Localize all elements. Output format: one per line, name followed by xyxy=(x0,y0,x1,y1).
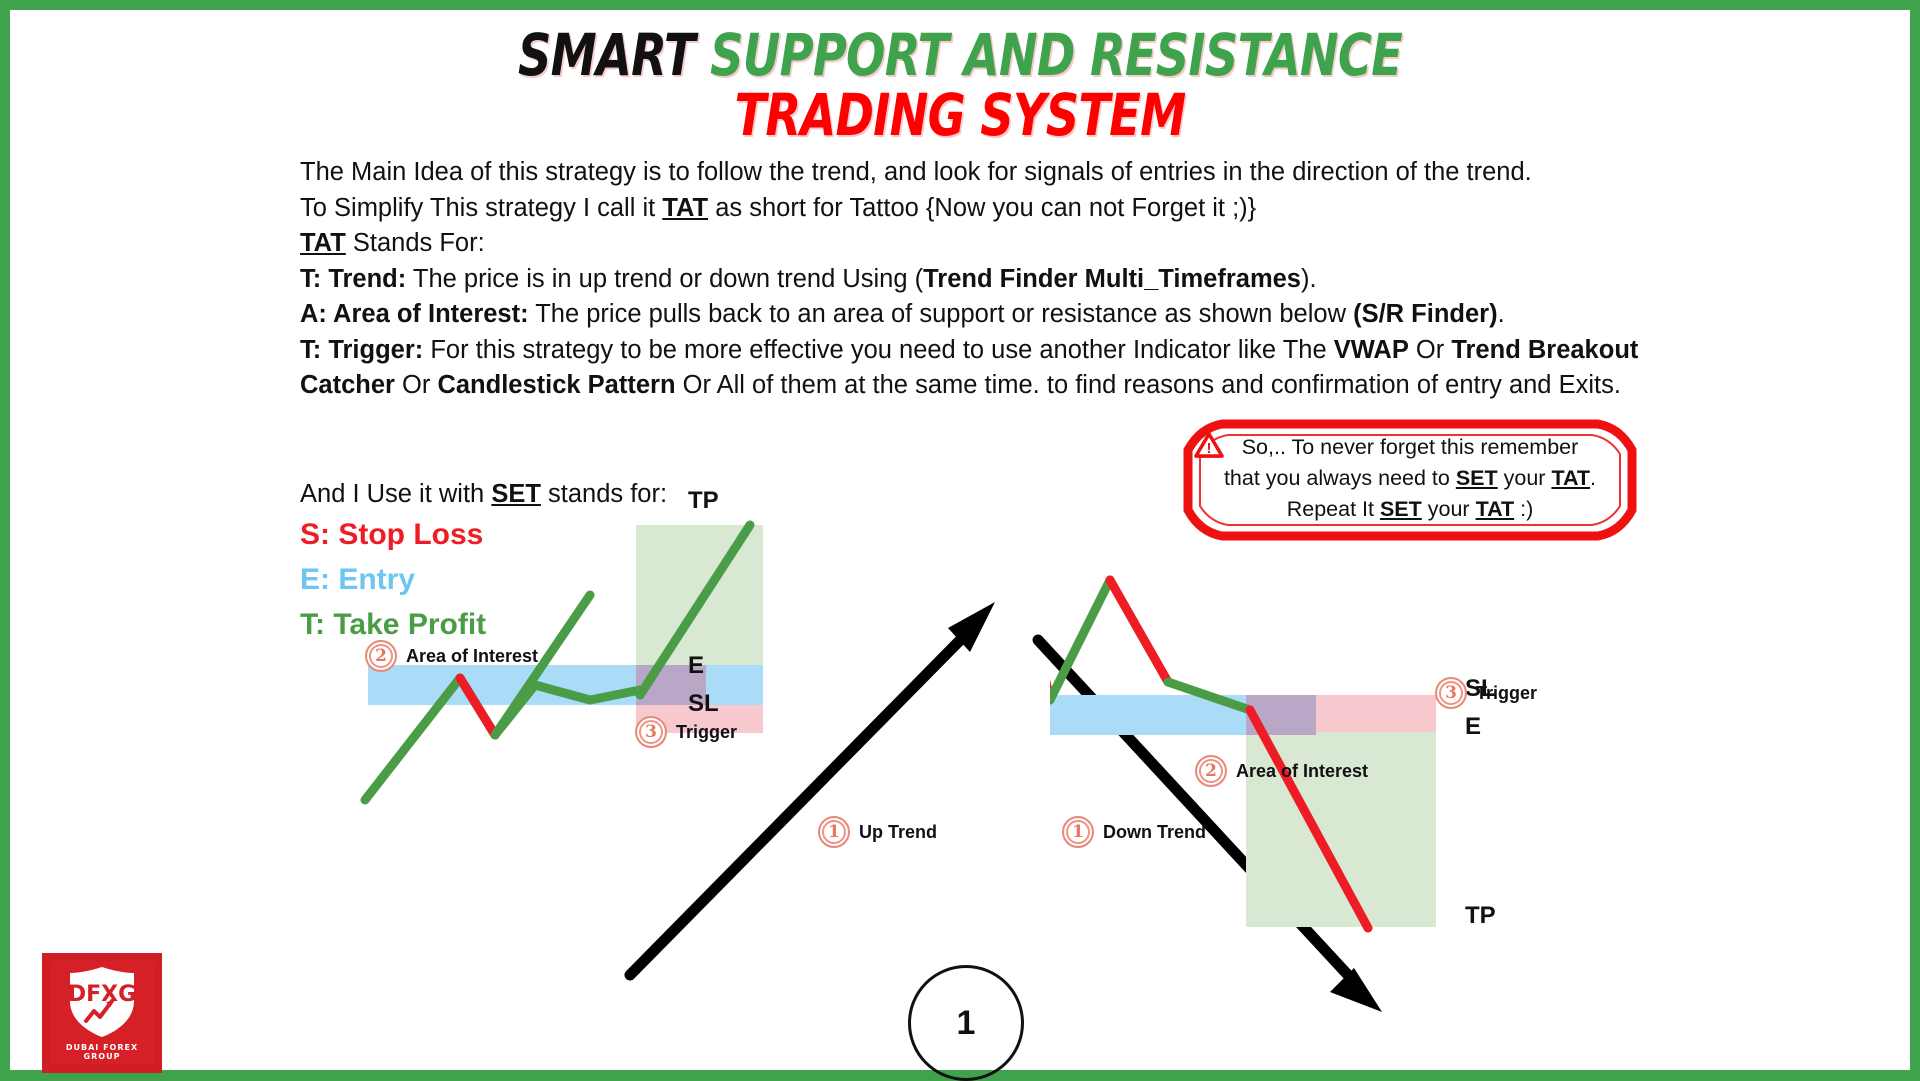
badge-label: Area of Interest xyxy=(1236,761,1368,782)
indicator-vwap: VWAP xyxy=(1334,336,1409,364)
paragraph-area-of-interest: A: Area of Interest: The price pulls bac… xyxy=(300,297,1660,333)
up-trend-arrow-icon xyxy=(610,580,1030,1000)
tat-term: TAT xyxy=(662,194,708,222)
badge-number-icon: 2 xyxy=(365,640,397,672)
title-trading-system: TRADING SYSTEM xyxy=(735,81,1186,149)
slide-page: SMART SUPPORT AND RESISTANCE TRADING SYS… xyxy=(10,10,1910,1070)
paragraph-trigger: T: Trigger: For this strategy to be more… xyxy=(300,333,1660,404)
body-copy: The Main Idea of this strategy is to fol… xyxy=(300,155,1660,404)
label-trend: T: Trend: xyxy=(300,265,406,293)
svg-text:DFXG: DFXG xyxy=(68,982,136,1007)
logo-inner: DFXG DUBAI FOREX GROUP xyxy=(50,961,154,1065)
badge-label: Area of Interest xyxy=(406,646,538,667)
chart-down-trend-graphic xyxy=(1050,510,1610,940)
logo-caption: DUBAI FOREX GROUP xyxy=(50,1043,154,1061)
paragraph-tat-stands-for: TAT Stands For: xyxy=(300,226,1660,262)
badge-label: Down Trend xyxy=(1103,822,1206,843)
badge-area-of-interest-right: 2 Area of Interest xyxy=(1195,755,1368,787)
tat-term: TAT xyxy=(1551,466,1590,490)
title-word-smart: SMART xyxy=(518,21,695,89)
rally-leg-green xyxy=(1050,580,1110,700)
badge-number-icon: 3 xyxy=(1435,677,1467,709)
badge-number-icon: 1 xyxy=(1062,816,1094,848)
badge-area-of-interest-left: 2 Area of Interest xyxy=(365,640,538,672)
page-number: 1 xyxy=(908,965,1024,1081)
title-line-1: SMART SUPPORT AND RESISTANCE xyxy=(200,26,1720,84)
title-line-2: TRADING SYSTEM xyxy=(200,86,1720,144)
indicator-sr-finder: (S/R Finder) xyxy=(1353,300,1498,328)
paragraph-simplify: To Simplify This strategy I call it TAT … xyxy=(300,191,1660,227)
indicator-trend-finder: Trend Finder Multi_Timeframes xyxy=(923,265,1301,293)
downtrend-leg-2 xyxy=(1110,580,1168,682)
label-area-of-interest: A: Area of Interest: xyxy=(300,300,529,328)
callout-line-2: that you always need to SET your TAT. xyxy=(1194,463,1626,494)
title-word-support-resistance: SUPPORT AND RESISTANCE xyxy=(710,21,1402,89)
shield-icon: DFXG xyxy=(50,961,154,1041)
callout-line-1: So,.. To never forget this remember xyxy=(1194,432,1626,463)
svg-text:!: ! xyxy=(1207,440,1212,457)
badge-trigger-right: 3 Trigger xyxy=(1435,677,1537,709)
chart-down-trend: SL E TP xyxy=(1050,510,1610,940)
indicator-candlestick-pattern: Candlestick Pattern xyxy=(437,371,675,399)
label-trigger: T: Trigger: xyxy=(300,336,423,364)
title-block: SMART SUPPORT AND RESISTANCE TRADING SYS… xyxy=(10,26,1910,144)
logo-dfxg: DFXG DUBAI FOREX GROUP xyxy=(42,953,162,1073)
tat-term: TAT xyxy=(300,229,346,257)
badge-down-trend: 1 Down Trend xyxy=(1062,816,1206,848)
level-tp-left: TP xyxy=(688,487,719,515)
badge-number-icon: 2 xyxy=(1195,755,1227,787)
paragraph-trend: T: Trend: The price is in up trend or do… xyxy=(300,262,1660,298)
set-term: SET xyxy=(1456,466,1498,490)
paragraph-main-idea: The Main Idea of this strategy is to fol… xyxy=(300,155,1660,191)
level-e-right: E xyxy=(1465,713,1481,741)
badge-label: Trigger xyxy=(1476,683,1537,704)
level-tp-right: TP xyxy=(1465,902,1496,930)
